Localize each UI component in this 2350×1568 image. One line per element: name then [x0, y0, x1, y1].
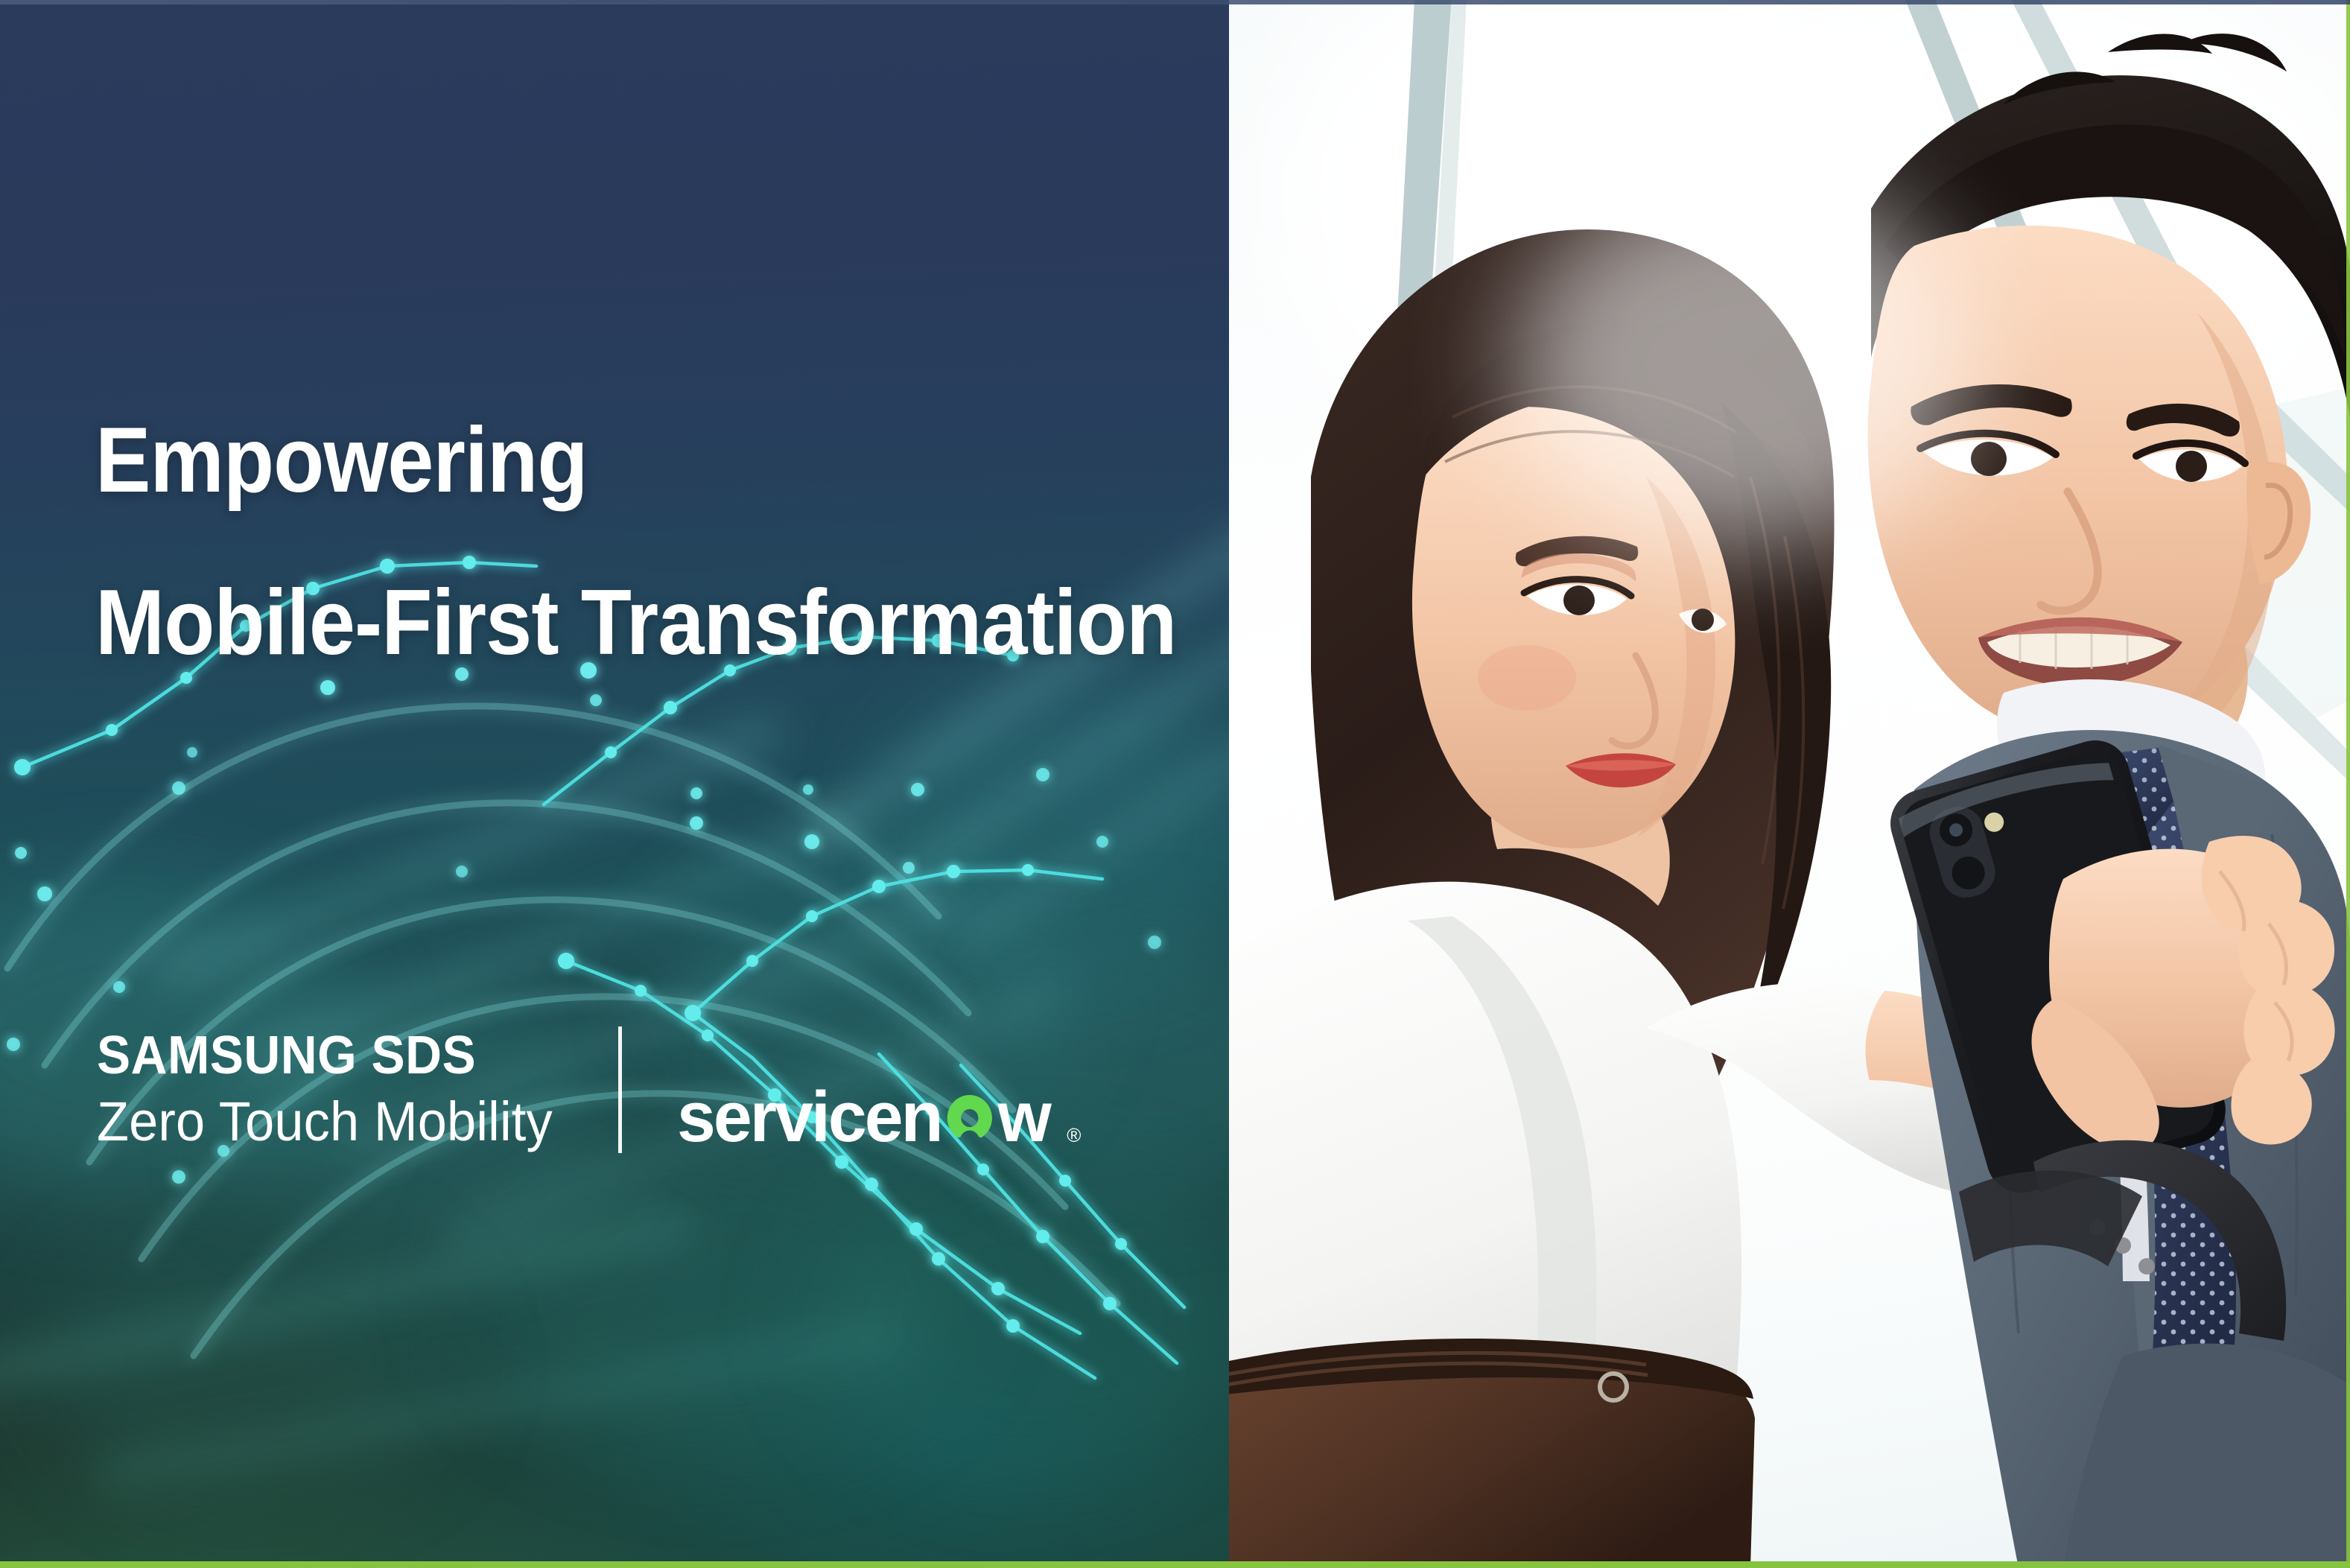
marketing-banner: Empowering Mobile-First Transformation S…: [0, 0, 2350, 1568]
network-wave-graphic: [0, 0, 1229, 1568]
top-accent-line: [0, 0, 2350, 4]
bokeh-blob: [45, 1222, 462, 1505]
blur-streak: [92, 1315, 906, 1494]
company-name: SAMSUNG SDS: [97, 1027, 587, 1085]
brand-divider: [618, 1026, 622, 1153]
registered-trademark-mark: ®: [1067, 1124, 1081, 1147]
servicenow-wordmark: servicenw: [677, 1082, 1049, 1153]
servicenow-logo: servicenw ®: [677, 1026, 1081, 1153]
left-content-panel: Empowering Mobile-First Transformation S…: [0, 0, 1229, 1568]
blur-streak: [0, 1204, 696, 1397]
servicenow-text-after: w: [997, 1077, 1049, 1157]
bokeh-blob: [879, 670, 1229, 983]
hero-photograph: [1229, 0, 2350, 1568]
blur-streak: [952, 650, 1229, 956]
product-name: Zero Touch Mobility: [97, 1091, 592, 1152]
bottom-accent-line: [0, 1561, 2350, 1568]
servicenow-green-o-icon: [943, 1092, 997, 1147]
bokeh-blob: [804, 1162, 1229, 1475]
samsung-sds-brand: SAMSUNG SDS Zero Touch Mobility: [97, 1027, 618, 1152]
brand-lockup: SAMSUNG SDS Zero Touch Mobility servicen…: [97, 1026, 1081, 1153]
photo-right-accent-line: [2346, 0, 2350, 1568]
headline-line-2: Mobile-First Transformation: [95, 577, 1087, 669]
blur-streak: [152, 710, 787, 993]
servicenow-text-before: servicen: [677, 1077, 941, 1157]
headline-line-1: Empowering: [95, 414, 1087, 507]
photo-scene: [1229, 0, 2350, 1568]
headline-block: Empowering Mobile-First Transformation: [95, 414, 1198, 669]
bokeh-blob: [462, 1132, 968, 1460]
